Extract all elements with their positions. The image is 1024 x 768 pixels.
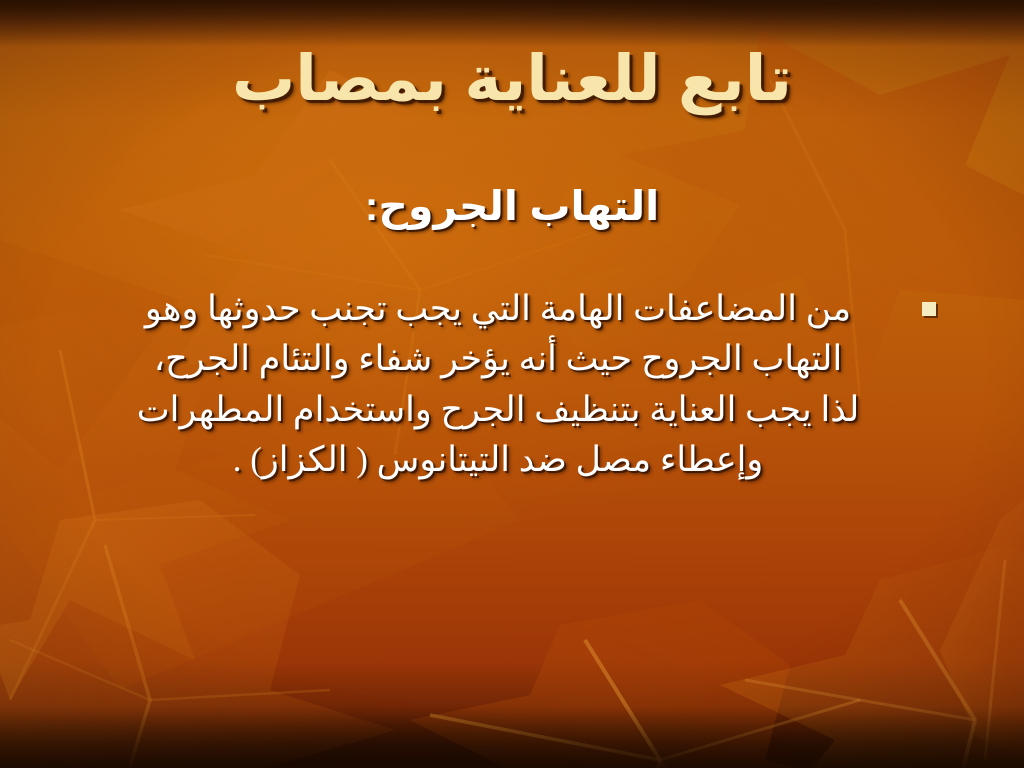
slide-title: تابع للعناية بمصاب: [0, 44, 1024, 115]
bullet-line: التهاب الجروح حيث أنه يؤخر شفاء والتئام …: [88, 334, 908, 384]
bullet-line: لذا يجب العناية بتنظيف الجرح واستخدام ال…: [88, 385, 908, 435]
bullet-line: من المضاعفات الهامة التي يجب تجنب حدوثها…: [88, 284, 908, 334]
bullet-paragraph: من المضاعفات الهامة التي يجب تجنب حدوثها…: [88, 284, 908, 486]
square-bullet-icon: [922, 302, 936, 316]
bullet-list-item: من المضاعفات الهامة التي يجب تجنب حدوثها…: [88, 284, 936, 486]
slide-subtitle: التهاب الجروح:: [0, 183, 1024, 230]
slide-body: من المضاعفات الهامة التي يجب تجنب حدوثها…: [88, 284, 936, 486]
bullet-line: وإعطاء مصل ضد التيتانوس ( الكزاز) .: [88, 435, 908, 485]
slide-content: تابع للعناية بمصاب التهاب الجروح: من الم…: [0, 0, 1024, 768]
slide-canvas: تابع للعناية بمصاب التهاب الجروح: من الم…: [0, 0, 1024, 768]
